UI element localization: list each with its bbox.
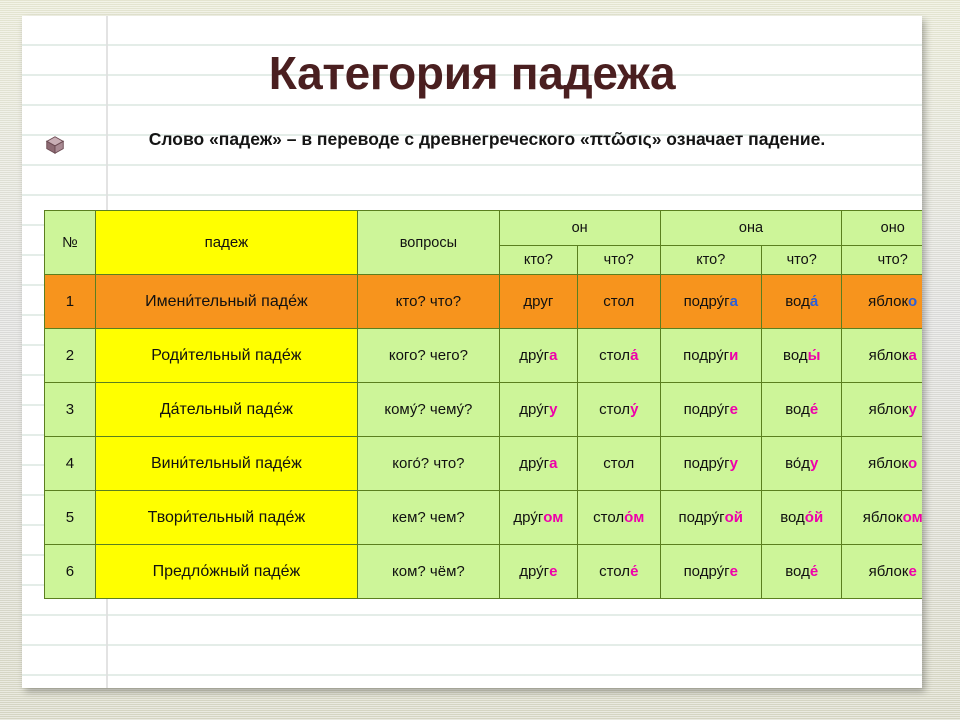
declined-word: яблоку [842, 383, 922, 437]
page-title: Категория падежа [22, 46, 922, 100]
cases-table: № падеж вопросы он она оно кто? что? кто… [44, 210, 922, 599]
word-stem: подру́г [684, 293, 730, 310]
word-stem: вод [785, 401, 810, 418]
word-ending: у́ [630, 401, 638, 418]
declined-word: столу́ [578, 383, 661, 437]
declined-word: яблоке [842, 545, 922, 599]
declined-word: дру́га [499, 437, 577, 491]
header-number: № [45, 211, 96, 275]
word-stem: стол [599, 401, 630, 418]
word-stem: подру́г [684, 455, 730, 472]
word-ending: ом [903, 509, 922, 526]
word-ending: а [908, 347, 916, 364]
case-name: Твори́тельный паде́ж [95, 491, 357, 545]
declined-word: подру́ге [660, 545, 762, 599]
word-ending: о [908, 293, 917, 310]
word-ending: е́ [810, 401, 818, 418]
word-stem: яблок [868, 293, 908, 310]
table-row: 5Твори́тельный паде́жкем? чем?дру́гомсто… [45, 491, 923, 545]
declined-word: воде́ [762, 383, 842, 437]
word-ending: е́ [810, 563, 818, 580]
declined-word: яблоко [842, 437, 922, 491]
word-stem: подру́г [684, 563, 730, 580]
row-number: 2 [45, 329, 96, 383]
case-questions: кто? что? [358, 275, 500, 329]
declined-word: водо́й [762, 491, 842, 545]
declined-word: подру́ги [660, 329, 762, 383]
case-name: Имени́тельный паде́ж [95, 275, 357, 329]
word-stem: подру́г [683, 347, 729, 364]
word-stem: стол [599, 347, 630, 364]
row-number: 1 [45, 275, 96, 329]
table-row: 2Роди́тельный паде́жкого? чего?дру́гасто… [45, 329, 923, 383]
word-ending: а́ [630, 347, 638, 364]
declined-word: подру́ге [660, 383, 762, 437]
case-questions: кого? чего? [358, 329, 500, 383]
word-ending: а [730, 293, 738, 310]
word-stem: вод [785, 563, 810, 580]
word-ending: ой [725, 509, 743, 526]
declined-word: яблока [842, 329, 922, 383]
declined-word: стола́ [578, 329, 661, 383]
word-ending: у [730, 455, 738, 472]
word-stem: дру́г [519, 455, 549, 472]
table-body: 1Имени́тельный паде́жкто? что?другстолпо… [45, 275, 923, 599]
header-questions: вопросы [358, 211, 500, 275]
row-number: 6 [45, 545, 96, 599]
word-ending: е́ [630, 563, 638, 580]
word-ending: е [730, 563, 738, 580]
word-stem: дру́г [519, 563, 549, 580]
header-on-kto: кто? [499, 246, 577, 275]
header-ono-chto: что? [842, 246, 922, 275]
word-stem: подру́г [684, 401, 730, 418]
word-ending: у [549, 401, 557, 418]
case-name: Да́тельный паде́ж [95, 383, 357, 437]
header-ona-chto: что? [762, 246, 842, 275]
word-stem: во́д [785, 455, 810, 472]
word-ending: о [908, 455, 917, 472]
word-ending: у [810, 455, 818, 472]
declined-word: во́ду [762, 437, 842, 491]
row-number: 4 [45, 437, 96, 491]
case-questions: ком? чём? [358, 545, 500, 599]
word-ending: а́ [810, 293, 818, 310]
word-stem: дру́г [513, 509, 543, 526]
declined-word: воды́ [762, 329, 842, 383]
table-header: № падеж вопросы он она оно кто? что? кто… [45, 211, 923, 275]
word-stem: друг [523, 293, 553, 310]
declined-word: дру́га [499, 329, 577, 383]
word-ending: а [549, 347, 557, 364]
header-gender-neuter: оно [842, 211, 922, 246]
word-stem: дру́г [519, 401, 549, 418]
declined-word: дру́гом [499, 491, 577, 545]
word-stem: вод [785, 293, 810, 310]
word-ending: ом [543, 509, 563, 526]
word-ending: у [908, 401, 916, 418]
declined-word: подру́гой [660, 491, 762, 545]
declined-word: воде́ [762, 545, 842, 599]
header-case: падеж [95, 211, 357, 275]
word-ending: и [729, 347, 738, 364]
word-ending: о́й [805, 509, 823, 526]
slide-frame: Категория падежа Слово «падеж» – в перев… [0, 0, 960, 720]
declined-word: яблоко [842, 275, 922, 329]
header-gender-feminine: она [660, 211, 842, 246]
word-ending: о́м [624, 509, 644, 526]
case-questions: кем? чем? [358, 491, 500, 545]
declined-word: столо́м [578, 491, 661, 545]
case-questions: кому́? чему́? [358, 383, 500, 437]
word-stem: вод [783, 347, 808, 364]
table-row: 3Да́тельный паде́жкому́? чему́?дру́густо… [45, 383, 923, 437]
word-ending: а [549, 455, 557, 472]
table-row: 1Имени́тельный паде́жкто? что?другстолпо… [45, 275, 923, 329]
case-name: Предло́жный паде́ж [95, 545, 357, 599]
declined-word: дру́гу [499, 383, 577, 437]
declined-word: друг [499, 275, 577, 329]
case-name: Вини́тельный паде́ж [95, 437, 357, 491]
declined-word: подру́га [660, 275, 762, 329]
declined-word: яблоком [842, 491, 922, 545]
word-stem: подру́г [679, 509, 725, 526]
header-gender-masculine: он [499, 211, 660, 246]
table-row: 4Вини́тельный паде́жкого́? что?дру́гасто… [45, 437, 923, 491]
declined-word: стол [578, 437, 661, 491]
word-stem: яблок [869, 347, 909, 364]
case-questions: кого́? что? [358, 437, 500, 491]
row-number: 5 [45, 491, 96, 545]
word-ending: ы́ [808, 347, 821, 364]
word-ending: е [908, 563, 916, 580]
header-on-chto: что? [578, 246, 661, 275]
word-stem: вод [780, 509, 805, 526]
declined-word: подру́гу [660, 437, 762, 491]
row-number: 3 [45, 383, 96, 437]
header-ona-kto: кто? [660, 246, 762, 275]
word-stem: яблок [869, 563, 909, 580]
word-stem: стол [603, 293, 634, 310]
declined-word: дру́ге [499, 545, 577, 599]
word-stem: стол [603, 455, 634, 472]
table-row: 6Предло́жный паде́жком? чём?дру́гестоле́… [45, 545, 923, 599]
word-stem: яблок [863, 509, 903, 526]
word-ending: е [730, 401, 738, 418]
word-stem: стол [593, 509, 624, 526]
declined-word: стол [578, 275, 661, 329]
bullet-text: Слово «падеж» – в переводе с древнегрече… [74, 128, 900, 152]
word-stem: яблок [869, 401, 909, 418]
word-stem: стол [599, 563, 630, 580]
word-stem: яблок [868, 455, 908, 472]
cube-bullet-icon [44, 134, 66, 156]
bullet-paragraph: Слово «падеж» – в переводе с древнегрече… [44, 128, 900, 156]
slide-canvas: Категория падежа Слово «падеж» – в перев… [22, 16, 922, 688]
case-name: Роди́тельный паде́ж [95, 329, 357, 383]
declined-word: вода́ [762, 275, 842, 329]
word-stem: дру́г [519, 347, 549, 364]
declined-word: столе́ [578, 545, 661, 599]
word-ending: е [549, 563, 557, 580]
